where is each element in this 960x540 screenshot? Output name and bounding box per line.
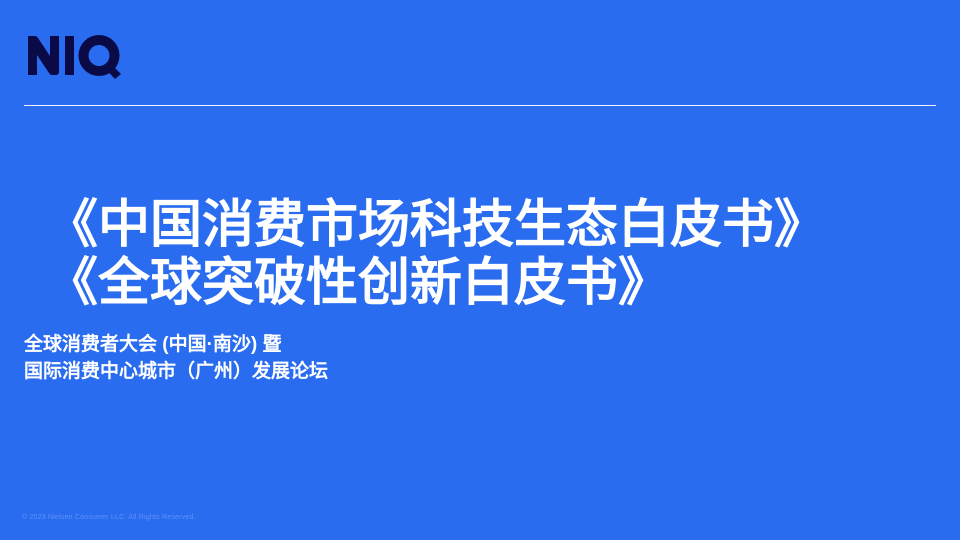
page-subtitle: 全球消费者大会 (中国·南沙) 暨 国际消费中心城市（广州）发展论坛 xyxy=(24,331,724,385)
page-title: 《中国消费市场科技生态白皮书》 《全球突破性创新白皮书》 xyxy=(46,196,906,312)
title-line-2: 《全球突破性创新白皮书》 xyxy=(46,254,906,312)
subtitle-line-2: 国际消费中心城市（广州）发展论坛 xyxy=(24,358,724,385)
niq-logo-mark xyxy=(24,31,124,79)
niq-logo[interactable] xyxy=(24,31,124,79)
title-line-1: 《中国消费市场科技生态白皮书》 xyxy=(46,196,906,254)
subtitle-line-1: 全球消费者大会 (中国·南沙) 暨 xyxy=(24,331,724,358)
header-divider xyxy=(24,105,936,106)
title-slide: 《中国消费市场科技生态白皮书》 《全球突破性创新白皮书》 全球消费者大会 (中国… xyxy=(0,0,960,540)
copyright-notice: © 2023 Nielsen Consumer LLC. All Rights … xyxy=(22,513,196,523)
